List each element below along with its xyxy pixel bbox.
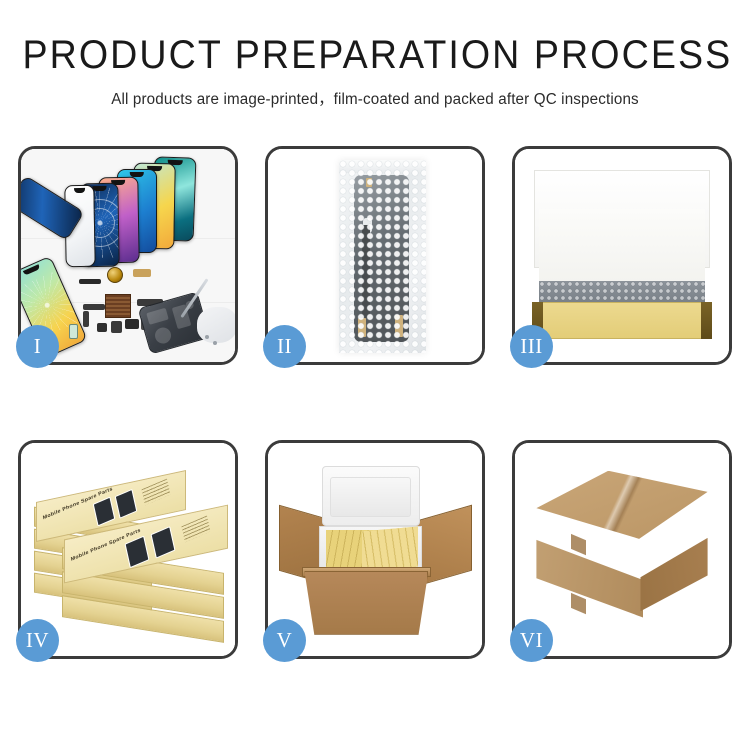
box-stack: Mobile Phone Spare Parts Mobile Phone Sp…	[34, 464, 222, 639]
speaker-bar-part	[79, 279, 101, 284]
step-badge-6: VI	[510, 619, 553, 662]
process-step-panel-2[interactable]: II	[265, 146, 485, 365]
step-1-image	[21, 149, 235, 362]
box-side-right	[701, 302, 712, 338]
step-4-image: Mobile Phone Spare Parts Mobile Phone Sp…	[21, 443, 235, 656]
speaker-coil-part	[107, 267, 123, 283]
process-step-grid: I II	[18, 146, 732, 678]
step-badge-4: IV	[16, 619, 59, 662]
step-2-image	[268, 149, 482, 362]
process-step-panel-3[interactable]: III	[512, 146, 732, 365]
process-step-panel-5[interactable]: V	[265, 440, 485, 659]
carton-body	[304, 571, 428, 635]
flex-cable-gold-part	[133, 269, 151, 277]
camera-module-part	[97, 323, 107, 332]
packed-kraft-boxes-b	[362, 527, 418, 572]
page-header: PRODUCT PREPARATION PROCESS All products…	[0, 0, 750, 109]
bubble-wrap-bag	[339, 160, 427, 354]
ic-chip-grid-part	[105, 294, 131, 318]
styrofoam-lid	[322, 466, 420, 526]
screw-part-b	[213, 341, 217, 345]
process-step-panel-6[interactable]: VI	[512, 440, 732, 659]
battery-part	[69, 324, 78, 339]
vibration-motor-part	[111, 321, 122, 333]
step-badge-2: II	[263, 325, 306, 368]
step-badge-3: III	[510, 325, 553, 368]
step-badge-1: I	[16, 325, 59, 368]
box-front-kraft	[532, 302, 712, 338]
step-5-image	[268, 443, 482, 656]
screw-part-a	[205, 335, 209, 339]
step-6-image	[515, 443, 729, 656]
process-step-panel-4[interactable]: Mobile Phone Spare Parts Mobile Phone Sp…	[18, 440, 238, 659]
flex-cable-part-b	[83, 304, 105, 310]
page-subtitle: All products are image-printed，film-coat…	[8, 87, 743, 109]
step-badge-5: V	[263, 619, 306, 662]
foam-sheet	[539, 209, 706, 290]
page-title: PRODUCT PREPARATION PROCESS	[23, 34, 728, 76]
receiver-part	[125, 319, 139, 329]
technician-hand	[197, 307, 235, 343]
process-step-panel-1[interactable]: I	[18, 146, 238, 365]
step-3-image	[515, 149, 729, 362]
flex-cable-part-c	[83, 311, 89, 327]
